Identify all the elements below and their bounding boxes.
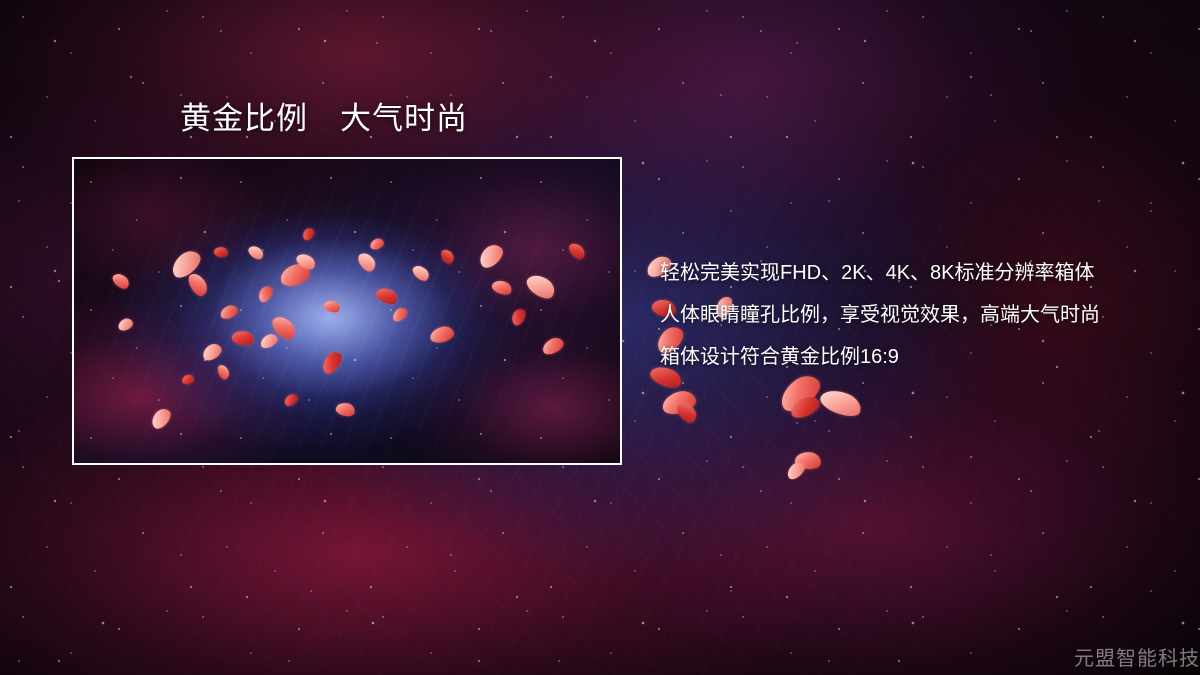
petal: [269, 312, 299, 343]
petal: [319, 348, 346, 376]
petal: [439, 247, 455, 265]
petal: [246, 243, 265, 262]
petal: [369, 237, 385, 251]
petal: [410, 262, 431, 283]
petal: [167, 246, 205, 281]
petal: [788, 393, 823, 421]
petal: [567, 240, 588, 262]
petal: [117, 317, 135, 332]
petal: [374, 285, 400, 308]
description-line-1: 轻松完美实现FHD、2K、4K、8K标准分辨率箱体: [660, 252, 1180, 294]
petal: [490, 278, 513, 298]
petal: [540, 335, 566, 357]
description-line-2: 人体眼睛瞳孔比例，享受视觉效果，高端大气时尚: [660, 294, 1180, 336]
petal: [110, 271, 131, 292]
petal: [216, 363, 231, 381]
feature-description: 轻松完美实现FHD、2K、4K、8K标准分辨率箱体 人体眼睛瞳孔比例，享受视觉效…: [660, 252, 1180, 378]
picture-petal-group: [74, 159, 620, 463]
picture-starfield: [74, 159, 620, 463]
petal: [148, 405, 174, 431]
petal: [390, 305, 409, 323]
page-title: 黄金比例 大气时尚: [180, 100, 468, 138]
petal: [794, 450, 822, 470]
petal: [231, 329, 256, 348]
petal: [213, 246, 229, 259]
watermark: 元盟智能科技: [1074, 646, 1200, 672]
picture-nebula-backdrop: [74, 159, 620, 463]
petal: [475, 241, 506, 272]
petal: [523, 270, 558, 303]
presentation-slide: 黄金比例 大气时尚: [0, 0, 1200, 675]
petal: [335, 401, 357, 419]
petal: [674, 399, 699, 426]
description-line-3: 箱体设计符合黄金比例16:9: [660, 336, 1180, 378]
petal: [323, 299, 342, 315]
petal: [200, 341, 224, 363]
petal: [817, 385, 864, 421]
petal: [356, 250, 379, 274]
petal: [258, 332, 279, 351]
petal: [218, 303, 239, 320]
petal: [181, 374, 194, 385]
petal: [660, 388, 698, 417]
petal: [278, 261, 312, 288]
petal: [282, 392, 299, 408]
petal: [429, 325, 456, 345]
petal: [186, 270, 211, 298]
petal: [509, 307, 528, 328]
framed-product-image: [72, 157, 622, 465]
petal: [294, 251, 318, 273]
picture-nebula-wisps: [74, 159, 620, 463]
petal: [784, 459, 808, 482]
petal: [300, 226, 316, 242]
petal: [256, 284, 276, 305]
